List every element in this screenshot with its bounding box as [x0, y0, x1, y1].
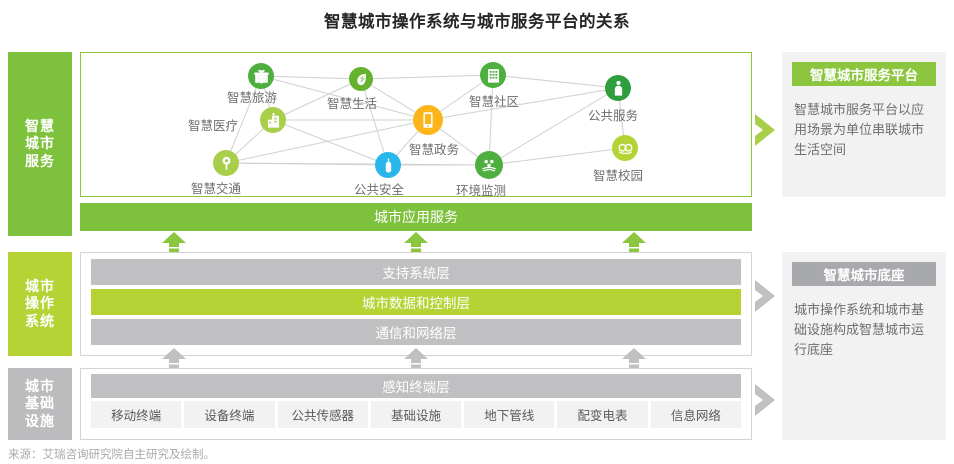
infographic-root: 智慧城市操作系统与城市服务平台的关系 智慧 城市 服务 城市 操作 系统 城市 … — [0, 0, 954, 464]
up-arrow-icon — [160, 232, 188, 252]
sidebar-line: 城市 — [25, 135, 55, 151]
network-node-environment[interactable] — [475, 151, 503, 179]
sidebar-line: 城市 — [25, 278, 55, 294]
network-node-label-life: 智慧生活 — [327, 93, 377, 112]
right-panel-head-service-platform: 智慧城市服务平台 — [792, 62, 936, 86]
right-panel-body-service-platform: 智慧城市服务平台以应用场景为单位串联城市生活空间 — [794, 100, 934, 160]
building-icon — [484, 66, 503, 85]
shield-icon — [379, 156, 398, 175]
tablet-icon — [417, 109, 439, 131]
sidebar-line: 操作 — [25, 295, 55, 311]
network-node-label-environment: 环境监测 — [456, 180, 506, 199]
os-layer-support-system[interactable]: 支持系统层 — [91, 259, 741, 285]
up-arrow-icon — [620, 232, 648, 252]
hospital-icon — [264, 111, 283, 130]
up-arrow-icon — [402, 232, 430, 252]
sidebar-item-city-os[interactable]: 城市 操作 系统 — [8, 252, 72, 356]
sidebar-line: 服务 — [25, 153, 55, 169]
person-icon — [609, 79, 628, 98]
gift-icon — [252, 67, 271, 86]
network-node-label-pubservice: 公共服务 — [588, 105, 638, 124]
os-layer-network[interactable]: 通信和网络层 — [91, 319, 741, 345]
network-node-tourism[interactable] — [248, 63, 274, 89]
network-node-label-campus: 智慧校园 — [593, 165, 643, 184]
sidebar-line: 系统 — [25, 313, 55, 329]
network-node-life[interactable] — [349, 67, 373, 91]
network-node-label-tourism: 智慧旅游 — [227, 87, 277, 106]
infra-cell[interactable]: 信息网络 — [651, 401, 741, 428]
page-title: 智慧城市操作系统与城市服务平台的关系 — [0, 8, 954, 32]
sidebar-line: 基础 — [25, 395, 55, 411]
right-panel-head-city-base: 智慧城市底座 — [792, 262, 936, 286]
chevron-right-icon — [753, 278, 779, 314]
infra-header-sensing-terminal[interactable]: 感知终端层 — [91, 374, 741, 398]
sidebar-line: 城市 — [25, 378, 55, 394]
network-edge — [489, 148, 625, 165]
network-node-security[interactable] — [375, 152, 401, 178]
right-panel-city-base: 智慧城市底座 城市操作系统和城市基础设施构成智慧城市运行底座 — [782, 252, 946, 440]
network-node-label-transport: 智慧交通 — [191, 178, 241, 197]
leaf-plug-icon — [353, 71, 370, 88]
sidebar-item-city-infrastructure[interactable]: 城市 基础 设施 — [8, 368, 72, 440]
infra-cell[interactable]: 地下管线 — [464, 401, 554, 428]
network-edge — [493, 75, 618, 88]
sidebar-label-smart-city-services: 智慧 城市 服务 — [25, 118, 55, 171]
os-layer-data-control[interactable]: 城市数据和控制层 — [91, 289, 741, 315]
infra-cell[interactable]: 公共传感器 — [278, 401, 368, 428]
infra-cell[interactable]: 移动终端 — [91, 401, 181, 428]
city-application-services-bar[interactable]: 城市应用服务 — [80, 203, 752, 231]
network-edge — [273, 120, 388, 165]
sidebar-label-city-infrastructure: 城市 基础 设施 — [25, 378, 55, 431]
infra-cell[interactable]: 设备终端 — [184, 401, 274, 428]
network-node-pubservice[interactable] — [605, 75, 631, 101]
chevron-right-icon — [753, 112, 779, 148]
network-node-label-egov: 智慧政务 — [409, 139, 459, 158]
network-node-label-medical: 智慧医疗 — [188, 115, 238, 134]
network-node-egov[interactable] — [413, 105, 443, 135]
glasses-icon — [616, 139, 635, 158]
infra-cell[interactable]: 基础设施 — [371, 401, 461, 428]
source-note: 来源：艾瑞咨询研究院自主研究及绘制。 — [8, 446, 215, 462]
sidebar-line: 设施 — [25, 413, 55, 429]
right-panel-body-city-base: 城市操作系统和城市基础设施构成智慧城市运行底座 — [794, 300, 934, 360]
up-arrow-icon — [160, 348, 188, 368]
sensor-icon — [479, 155, 499, 175]
network-node-community[interactable] — [480, 62, 506, 88]
infra-cell-list: 移动终端设备终端公共传感器基础设施地下管线配变电表信息网络 — [91, 401, 741, 428]
network-node-medical[interactable] — [260, 107, 286, 133]
network-edge — [361, 75, 493, 79]
sidebar-line: 智慧 — [25, 118, 55, 134]
city-os-layers: 支持系统层 城市数据和控制层 通信和网络层 — [80, 252, 752, 356]
signal-icon — [217, 154, 236, 173]
right-panel-service-platform: 智慧城市服务平台 智慧城市服务平台以应用场景为单位串联城市生活空间 — [782, 52, 946, 197]
chevron-right-icon — [753, 382, 779, 418]
network-node-campus[interactable] — [612, 135, 638, 161]
network-edge — [261, 76, 361, 79]
network-node-label-community: 智慧社区 — [469, 91, 519, 110]
city-infrastructure-box: 感知终端层 移动终端设备终端公共传感器基础设施地下管线配变电表信息网络 — [80, 368, 752, 440]
up-arrow-icon — [402, 348, 430, 368]
sidebar-item-smart-city-services[interactable]: 智慧 城市 服务 — [8, 52, 72, 236]
infra-cell[interactable]: 配变电表 — [557, 401, 647, 428]
network-node-label-security: 公共安全 — [354, 179, 404, 198]
sidebar-label-city-os: 城市 操作 系统 — [25, 278, 55, 331]
smart-city-services-network-panel: 智慧旅游智慧生活智慧社区公共服务智慧医疗智慧政务智慧校园智慧交通公共安全环境监测 — [80, 52, 752, 197]
up-arrow-icon — [620, 348, 648, 368]
network-node-transport[interactable] — [213, 150, 239, 176]
